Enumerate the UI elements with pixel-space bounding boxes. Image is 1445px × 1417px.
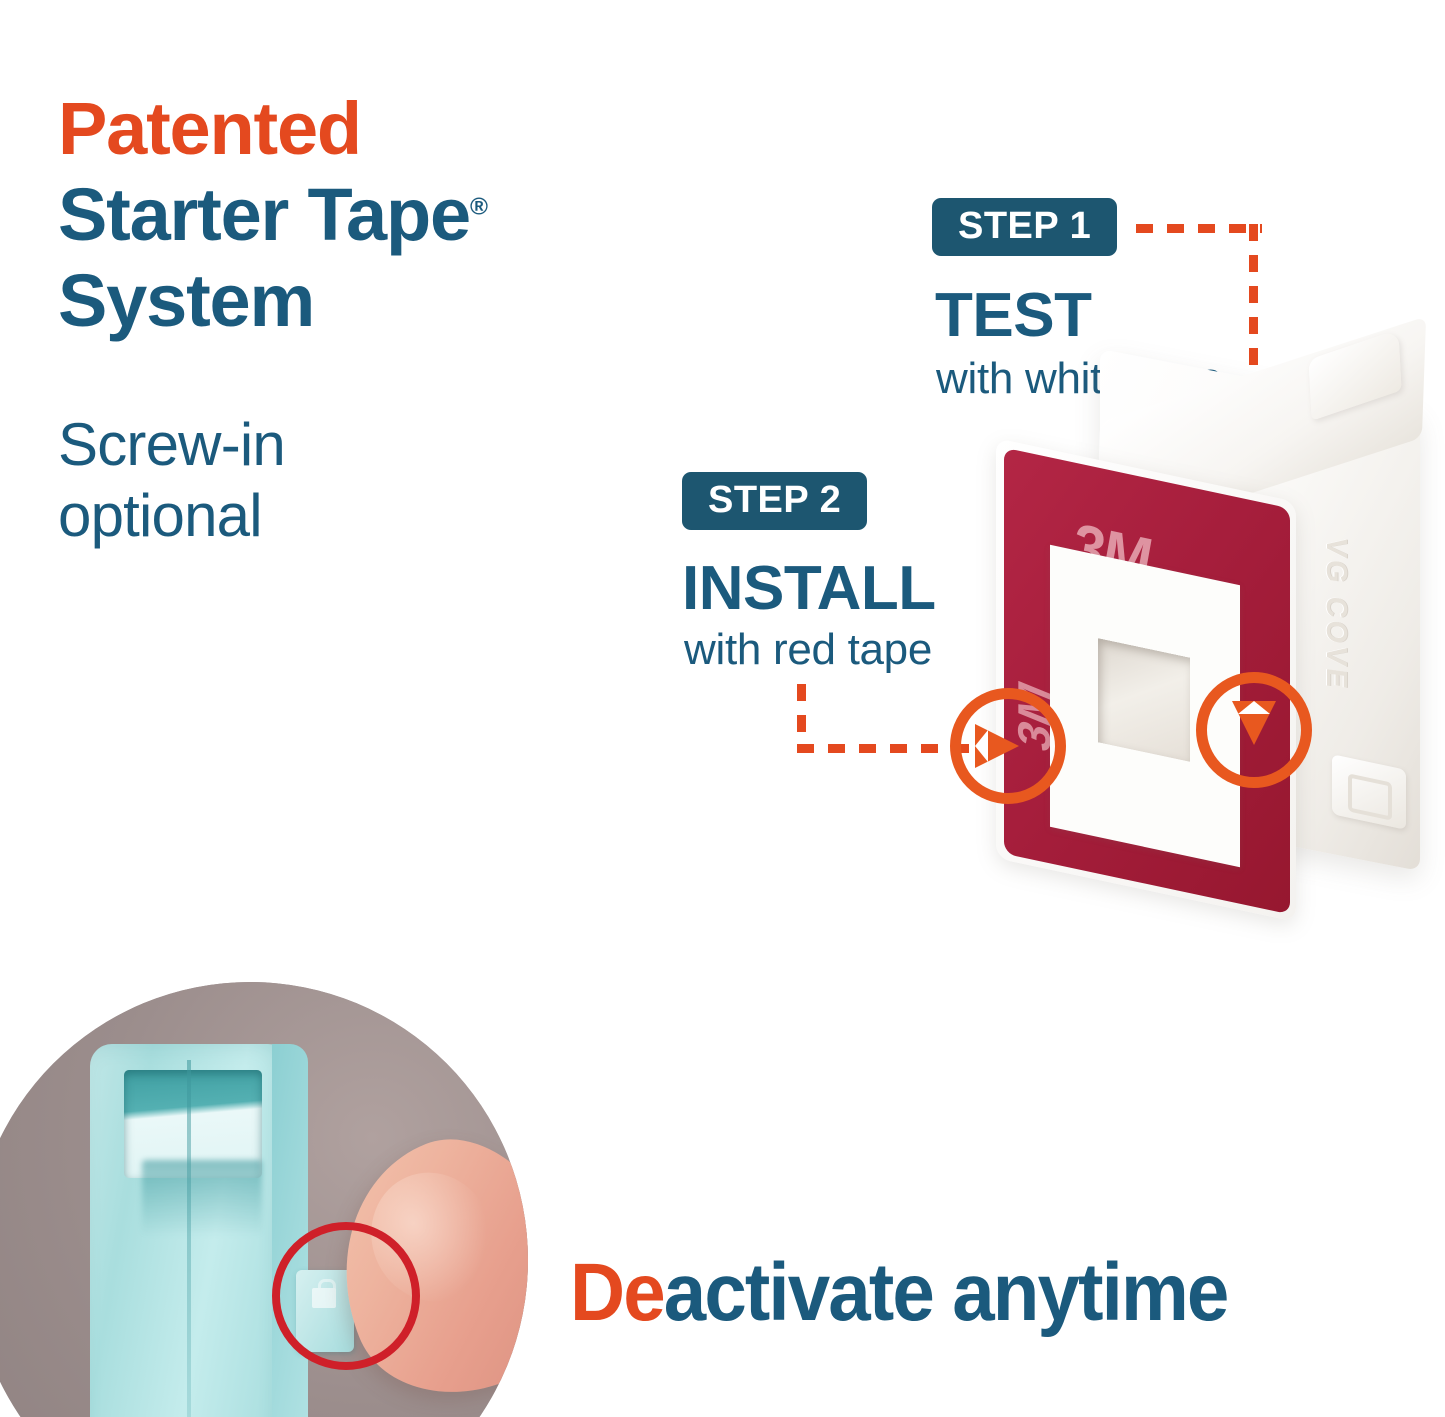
photo-slot-shadow [142,1160,262,1236]
arrow-down-icon [1232,701,1276,745]
headline-line-2: Starter Tape® [58,172,678,258]
step-2-badge: STEP 2 [682,472,867,530]
headline-line-3: System [58,258,678,344]
step-2-title: INSTALL [682,558,936,620]
product-embossed-label: VG COVE [1319,535,1352,693]
headline-highlight-word: Patented [58,86,678,172]
step-2-connector-vertical [797,684,806,752]
tagline-highlight: De [570,1247,664,1338]
product-recessed-window [1098,638,1190,762]
photo-mount-side [272,1044,308,1417]
infographic-canvas: Patented Starter Tape® System Screw-in o… [0,0,1445,1417]
step-1-badge: STEP 1 [932,198,1117,256]
deactivate-photo [0,982,528,1417]
subheading-line-1: Screw-in [58,410,538,481]
headline-line-2-text: Starter Tape [58,173,470,256]
tagline-rest: activate anytime [664,1247,1228,1338]
photo-callout-ring [272,1222,420,1370]
page-title: Patented Starter Tape® System [58,86,678,343]
product-photo: VG COVE 3M 3M [980,330,1445,970]
registered-trademark-icon: ® [470,193,488,220]
arrow-right-icon [975,724,1019,768]
subheading: Screw-in optional [58,410,538,552]
step-1-connector-horizontal [1136,224,1262,233]
subheading-line-2: optional [58,481,538,552]
photo-mount-seam [187,1060,191,1417]
step-2-subtitle: with red tape [684,628,932,672]
tagline: Deactivate anytime [570,1252,1227,1334]
